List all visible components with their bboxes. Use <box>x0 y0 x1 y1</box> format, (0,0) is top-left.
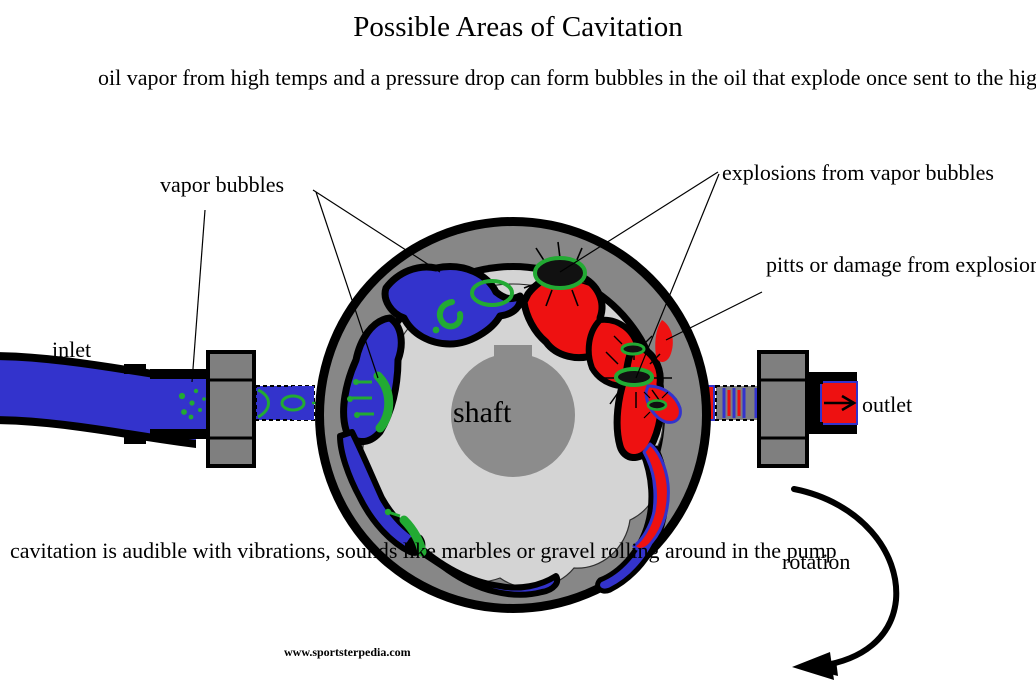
page-title: Possible Areas of Cavitation <box>0 10 1036 44</box>
inlet-port-block <box>206 350 256 468</box>
diagram-canvas: Possible Areas of Cavitation oil vapor f… <box>0 0 1036 681</box>
label-outlet: outlet <box>862 392 912 418</box>
watermark: www.sportsterpedia.com <box>284 645 411 659</box>
inlet-hose <box>0 352 212 448</box>
label-explosions-from-vapor-bubbles: explosions from vapor bubbles <box>722 160 992 186</box>
label-pitts-or-damage: pitts or damage from explosions <box>766 252 1034 278</box>
outlet-port-block <box>757 350 809 468</box>
label-vapor-bubbles: vapor bubbles <box>160 172 284 198</box>
rotation-arrow <box>792 489 896 680</box>
caption-cavitation-audible: cavitation is audible with vibrations, s… <box>10 538 310 564</box>
label-shaft: shaft <box>453 395 511 430</box>
outlet-pipe <box>809 372 857 434</box>
pump-illustration <box>0 0 1036 681</box>
subtitle-description: oil vapor from high temps and a pressure… <box>98 65 968 91</box>
label-inlet: inlet <box>52 337 91 363</box>
